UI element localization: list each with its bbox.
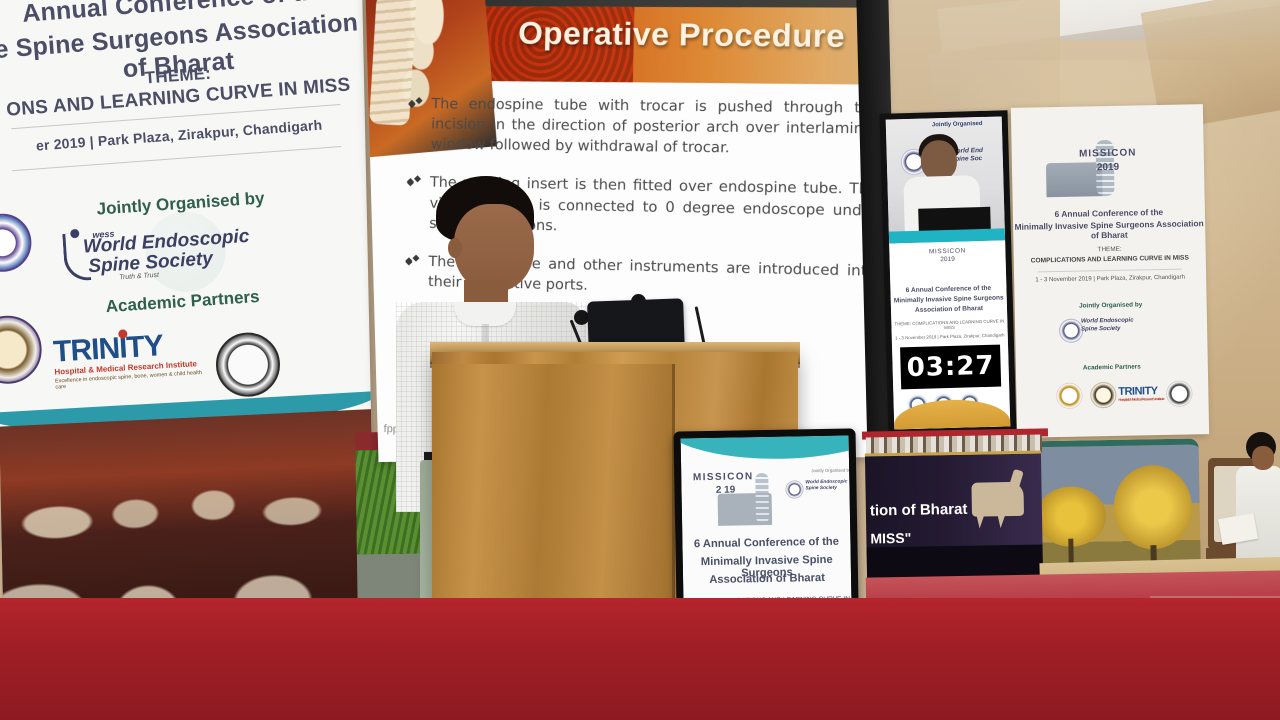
right-banner-trinity-name: TRINITY (1118, 385, 1158, 398)
monitor-teal-arc (681, 436, 854, 461)
feed-jointly-organised: Jointly Organised (932, 121, 983, 128)
slide-bullet: The endospine tube with trocar is pushed… (408, 94, 879, 161)
right-banner-wess-line2: Spine Society (1081, 325, 1155, 334)
monitor-seal-icon (785, 480, 803, 498)
countdown-timer: 03:27 (900, 345, 1001, 390)
live-camera-feed: Jointly Organised World EndSpine Soc (886, 116, 1005, 237)
slide-bullet-text: The endospine tube with trocar is pushed… (431, 94, 880, 161)
secondary-theme: THEME: COMPLICATIONS AND LEARNING CURVE … (891, 318, 1007, 331)
right-banner-date-venue: 1 - 3 November 2019 | Park Plaza, Zirakp… (1014, 274, 1206, 284)
medical-college-seal-icon (215, 332, 280, 397)
speaker-ear (448, 238, 462, 258)
trinity-logo: TRINITY Hospital & Medical Research Inst… (52, 327, 207, 392)
academic-partner-seal-icon (1090, 382, 1116, 408)
left-banner-date-venue: er 2019 | Park Plaza, Zirakpur, Chandiga… (0, 113, 365, 156)
right-standee-banner: MISSICON 2019 6 Annual Conference of the… (1011, 104, 1209, 438)
spine-society-seal-icon (0, 315, 42, 384)
secondary-line1: 6 Annual Conference of the (890, 284, 1006, 294)
right-banner-theme-text: COMPLICATIONS AND LEARNING CURVE IN MISS (1014, 254, 1206, 265)
academic-partner-seal-icon (1166, 380, 1192, 406)
monitor-wess-line2: Spine Society (805, 486, 837, 492)
academic-partner-seal-icon (1056, 383, 1082, 409)
right-banner-divider (1038, 269, 1182, 273)
monitor-spine-icon (755, 473, 769, 523)
countdown-timer-value: 03:27 (906, 351, 995, 383)
secondary-line2: Minimally Invasive Spine Surgeons (891, 294, 1007, 304)
monitor-wess-logo: World Endoscopic Spine Society (805, 480, 847, 493)
diamond-bullet-icon (409, 98, 422, 111)
right-banner-trinity-sub: Hospital & Medical Research Institute (1118, 397, 1164, 402)
monitor-wess-line1: World Endoscopic (805, 480, 847, 486)
right-banner-year: 2019 (1012, 160, 1204, 175)
dark-banner-line2: MISS" (870, 530, 911, 547)
monitor-line3: Association of Bharat (683, 572, 851, 587)
secondary-date-venue: 1 - 3 November 2019 | Park Plaza, Zirakp… (892, 332, 1008, 340)
dark-banner: tion of Bharat MISS" (865, 450, 1043, 581)
slide-title: Operative Procedure (518, 15, 846, 55)
tree-foliage (1113, 465, 1192, 550)
speaker-face (454, 204, 534, 292)
horse-sculpture-graphic (971, 482, 1024, 517)
right-banner-line2: Minimally Invasive Spine Surgeons Associ… (1013, 218, 1205, 242)
right-banner-jointly-organised: Jointly Organised by (1015, 300, 1207, 311)
right-banner-seal-icon (1059, 319, 1083, 343)
right-banner-trinity: TRINITY Hospital & Medical Research Inst… (1118, 385, 1164, 402)
seated-person-face (1252, 446, 1274, 470)
dark-banner-line1: tion of Bharat (870, 501, 968, 520)
right-banner-wess-logo: World Endoscopic Spine Society (1081, 317, 1156, 348)
right-banner-missicon: MISSICON (1012, 146, 1204, 161)
secondary-slide-body: MISSICON 2019 6 Annual Conference of the… (889, 240, 1010, 429)
conference-stage-photo: Annual Conference of the e Spine Surgeon… (0, 0, 1280, 720)
stage-front-carpet (0, 598, 1280, 720)
feed-speaker-head (920, 140, 957, 181)
wess-logo: wess World Endoscopic Spine Society Trut… (54, 215, 228, 288)
wess-tagline: Truth & Trust (119, 272, 159, 282)
secondary-display-screen: Jointly Organised World EndSpine Soc MIS… (886, 116, 1011, 429)
secondary-display-with-timer: Jointly Organised World EndSpine Soc MIS… (880, 110, 1017, 435)
secondary-line3: Association of Bharat (891, 304, 1007, 314)
monitor-line1: 6 Annual Conference of the (682, 536, 850, 551)
right-banner-theme-label: THEME: (1014, 244, 1206, 255)
right-banner-academic-partners: Academic Partners (1016, 362, 1208, 373)
speaker-collar (454, 302, 516, 326)
